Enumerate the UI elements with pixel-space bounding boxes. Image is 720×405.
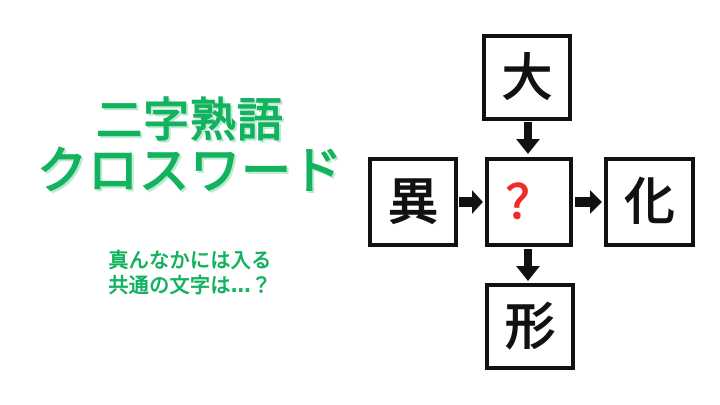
puzzle-cell-left-char: 異 bbox=[388, 177, 438, 227]
puzzle-cell-top-char: 大 bbox=[502, 53, 552, 103]
promo-title: 二字熟語 クロスワード bbox=[0, 96, 380, 198]
arrow-right-icon bbox=[459, 189, 484, 215]
promo-title-line-2: クロスワード bbox=[0, 145, 380, 198]
crossword-diagram: 大 異 ？ 化 bbox=[360, 0, 720, 405]
arrow-right-icon bbox=[575, 189, 603, 215]
puzzle-cell-top: 大 bbox=[482, 34, 572, 121]
puzzle-cell-bottom: 形 bbox=[485, 283, 575, 370]
puzzle-cell-center[interactable]: ？ bbox=[485, 157, 573, 247]
puzzle-cell-bottom-char: 形 bbox=[505, 302, 555, 352]
puzzle-cell-center-char: ？ bbox=[506, 179, 552, 225]
puzzle-cell-right-char: 化 bbox=[625, 177, 675, 227]
puzzle-canvas: 二字熟語 クロスワード 真んなかには入る 共通の文字は…？ 大 異 ？ bbox=[0, 0, 720, 405]
promo-subtitle: 真んなかには入る 共通の文字は…？ bbox=[0, 248, 380, 298]
arrow-down-icon bbox=[515, 122, 541, 155]
puzzle-cell-left: 異 bbox=[368, 157, 458, 247]
promo-subtitle-line-1: 真んなかには入る bbox=[0, 248, 380, 273]
puzzle-cell-right: 化 bbox=[604, 157, 695, 247]
arrow-down-icon bbox=[515, 249, 541, 282]
promo-subtitle-line-2: 共通の文字は…？ bbox=[0, 273, 380, 298]
promo-title-line-1: 二字熟語 bbox=[0, 96, 380, 145]
